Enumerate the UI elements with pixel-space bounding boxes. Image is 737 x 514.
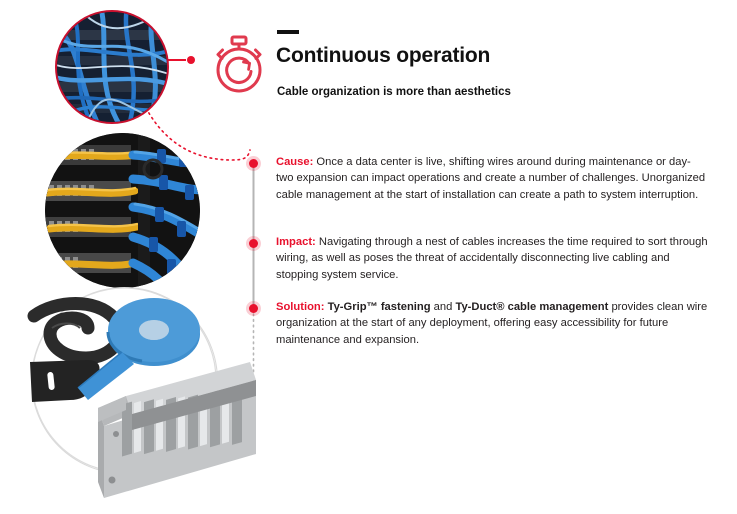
bullet-lead-cause: Cause: <box>276 156 313 168</box>
bullet-text-cause: Cause: Once a data center is live, shift… <box>276 154 708 203</box>
server-rack-art <box>45 133 200 288</box>
bullet-lead-solution: Solution: <box>276 301 324 313</box>
product-name-ty-grip: Ty-Grip™ fastening <box>328 301 431 313</box>
bullet-dot-solution <box>249 304 258 313</box>
bullet-body-impact: Navigating through a nest of cables incr… <box>276 236 708 281</box>
product-name-ty-duct: Ty-Duct® cable management <box>455 301 608 313</box>
bullet-body-cause: Once a data center is live, shifting wir… <box>276 156 705 201</box>
bullet-text-impact: Impact: Navigating through a nest of cab… <box>276 234 708 283</box>
bullet-lead-impact: Impact: <box>276 236 316 248</box>
image-tangled-blue-network-cables <box>57 12 167 122</box>
stopwatch-refresh-icon <box>208 33 270 95</box>
infographic-stage: Continuous operation Cable organization … <box>0 0 737 507</box>
page-title: Continuous operation <box>276 44 490 68</box>
products-art <box>26 284 256 514</box>
image-ty-grip-straps-and-ty-duct <box>32 288 217 473</box>
tangled-cables-art <box>57 12 167 122</box>
title-rule <box>277 30 299 34</box>
connector-dot-icon <box>187 56 195 64</box>
solution-conjunction: and <box>431 301 456 313</box>
image-organized-server-rack-cabling <box>45 133 200 288</box>
bullet-dot-impact <box>249 239 258 248</box>
bullet-text-solution: Solution: Ty-Grip™ fastening and Ty-Duct… <box>276 299 708 348</box>
bullet-dot-cause <box>249 159 258 168</box>
page-subtitle: Cable organization is more than aestheti… <box>277 84 527 100</box>
